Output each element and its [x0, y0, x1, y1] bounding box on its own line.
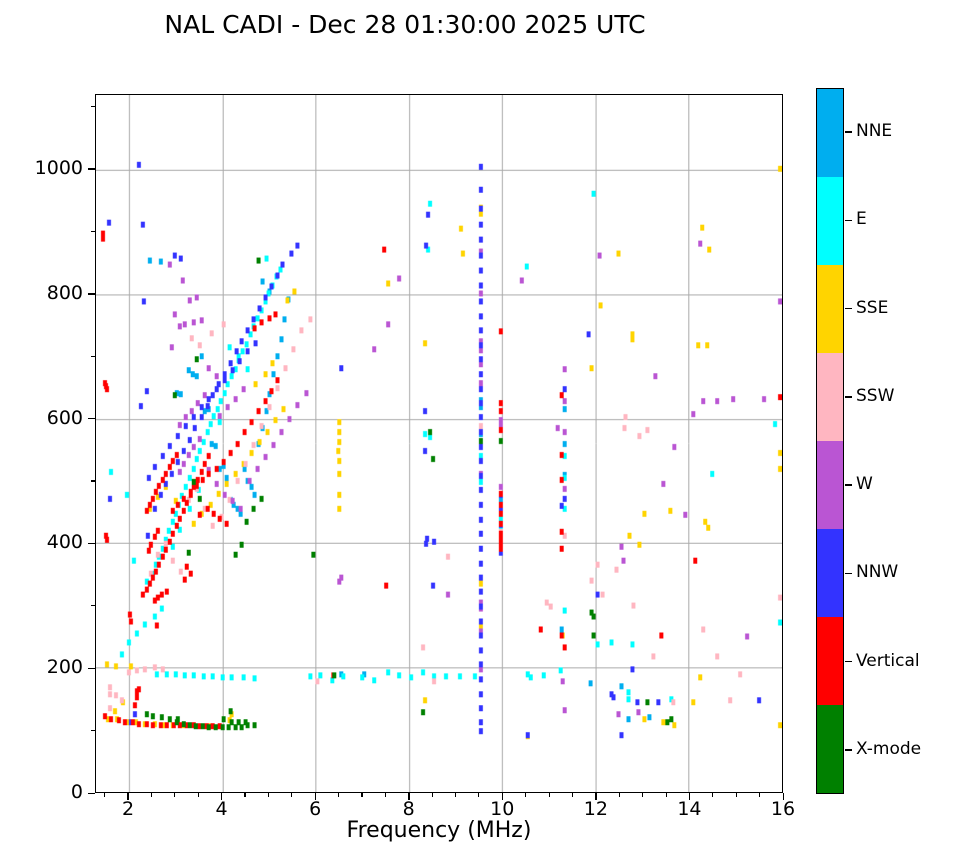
x-tick-minor — [478, 793, 479, 797]
x-tick-label: 2 — [103, 798, 153, 820]
colorbar-tick — [845, 308, 852, 310]
colorbar-segment-ssw — [817, 353, 843, 441]
colorbar-tick — [845, 396, 852, 398]
x-tick-label: 16 — [758, 798, 808, 820]
x-tick-minor — [525, 793, 526, 797]
azimuth-colorbar — [816, 88, 844, 794]
colorbar-segment-w — [817, 441, 843, 529]
x-tick-label: 8 — [384, 798, 434, 820]
y-tick-label: 1000 — [20, 157, 83, 179]
colorbar-tick — [845, 220, 852, 222]
y-tick-minor — [91, 730, 95, 731]
x-tick-minor — [338, 793, 339, 797]
colorbar-label-x-mode: X-mode — [856, 739, 921, 759]
x-tick-minor — [595, 793, 596, 797]
x-tick-minor — [291, 793, 292, 797]
colorbar-tick — [845, 131, 852, 133]
x-tick-minor — [174, 793, 175, 797]
x-tick-label: 14 — [664, 798, 714, 820]
y-tick-major — [88, 418, 95, 419]
x-tick-minor — [315, 793, 316, 797]
colorbar-tick — [845, 484, 852, 486]
x-tick-minor — [221, 793, 222, 797]
x-tick-label: 12 — [571, 798, 621, 820]
y-tick-minor — [91, 605, 95, 606]
x-tick-minor — [549, 793, 550, 797]
y-tick-label: 200 — [20, 656, 83, 678]
colorbar-segment-x-mode — [817, 705, 843, 793]
x-tick-minor — [666, 793, 667, 797]
y-tick-major — [88, 668, 95, 669]
x-tick-minor — [502, 793, 503, 797]
x-tick-minor — [455, 793, 456, 797]
page-title: NAL CADI - Dec 28 01:30:00 2025 UTC — [0, 10, 810, 39]
x-tick-minor — [268, 793, 269, 797]
colorbar-segment-e — [817, 177, 843, 265]
scatter-canvas — [96, 95, 782, 792]
y-tick-major — [88, 793, 95, 794]
x-tick-minor — [385, 793, 386, 797]
x-tick-minor — [759, 793, 760, 797]
x-tick-label: 10 — [477, 798, 527, 820]
ionogram-page: NAL CADI - Dec 28 01:30:00 2025 UTC Virt… — [0, 0, 958, 857]
x-tick-label: 6 — [290, 798, 340, 820]
y-tick-label: 800 — [20, 282, 83, 304]
x-tick-minor — [244, 793, 245, 797]
y-tick-major — [88, 293, 95, 294]
x-tick-minor — [736, 793, 737, 797]
x-tick-minor — [689, 793, 690, 797]
colorbar-segment-vertical — [817, 617, 843, 705]
colorbar-label-vertical: Vertical — [856, 651, 920, 671]
x-tick-label: 4 — [197, 798, 247, 820]
colorbar-label-sse: SSE — [856, 298, 888, 318]
y-tick-label: 0 — [20, 781, 83, 803]
y-tick-minor — [91, 480, 95, 481]
y-tick-minor — [91, 231, 95, 232]
x-tick-minor — [619, 793, 620, 797]
plot-area — [95, 94, 783, 793]
x-tick-minor — [104, 793, 105, 797]
x-tick-minor — [151, 793, 152, 797]
colorbar-tick — [845, 749, 852, 751]
y-tick-label: 600 — [20, 407, 83, 429]
colorbar-label-nnw: NNW — [856, 562, 898, 582]
y-tick-major — [88, 543, 95, 544]
x-tick-minor — [712, 793, 713, 797]
colorbar-segment-sse — [817, 265, 843, 353]
colorbar-label-w: W — [856, 474, 873, 494]
y-tick-minor — [91, 106, 95, 107]
x-tick-minor — [127, 793, 128, 797]
x-tick-minor — [198, 793, 199, 797]
y-tick-major — [88, 168, 95, 169]
y-tick-label: 400 — [20, 531, 83, 553]
colorbar-tick — [845, 661, 852, 663]
y-tick-minor — [91, 356, 95, 357]
colorbar-segment-nne — [817, 89, 843, 177]
x-tick-minor — [572, 793, 573, 797]
x-tick-minor — [361, 793, 362, 797]
colorbar-label-ssw: SSW — [856, 386, 894, 406]
x-tick-minor — [642, 793, 643, 797]
x-axis-label: Frequency (MHz) — [95, 818, 783, 843]
colorbar-tick — [845, 573, 852, 575]
colorbar-label-nne: NNE — [856, 121, 892, 141]
colorbar-label-e: E — [856, 209, 867, 229]
colorbar-segment-nnw — [817, 529, 843, 617]
x-tick-minor — [783, 793, 784, 797]
x-tick-minor — [408, 793, 409, 797]
x-tick-minor — [432, 793, 433, 797]
